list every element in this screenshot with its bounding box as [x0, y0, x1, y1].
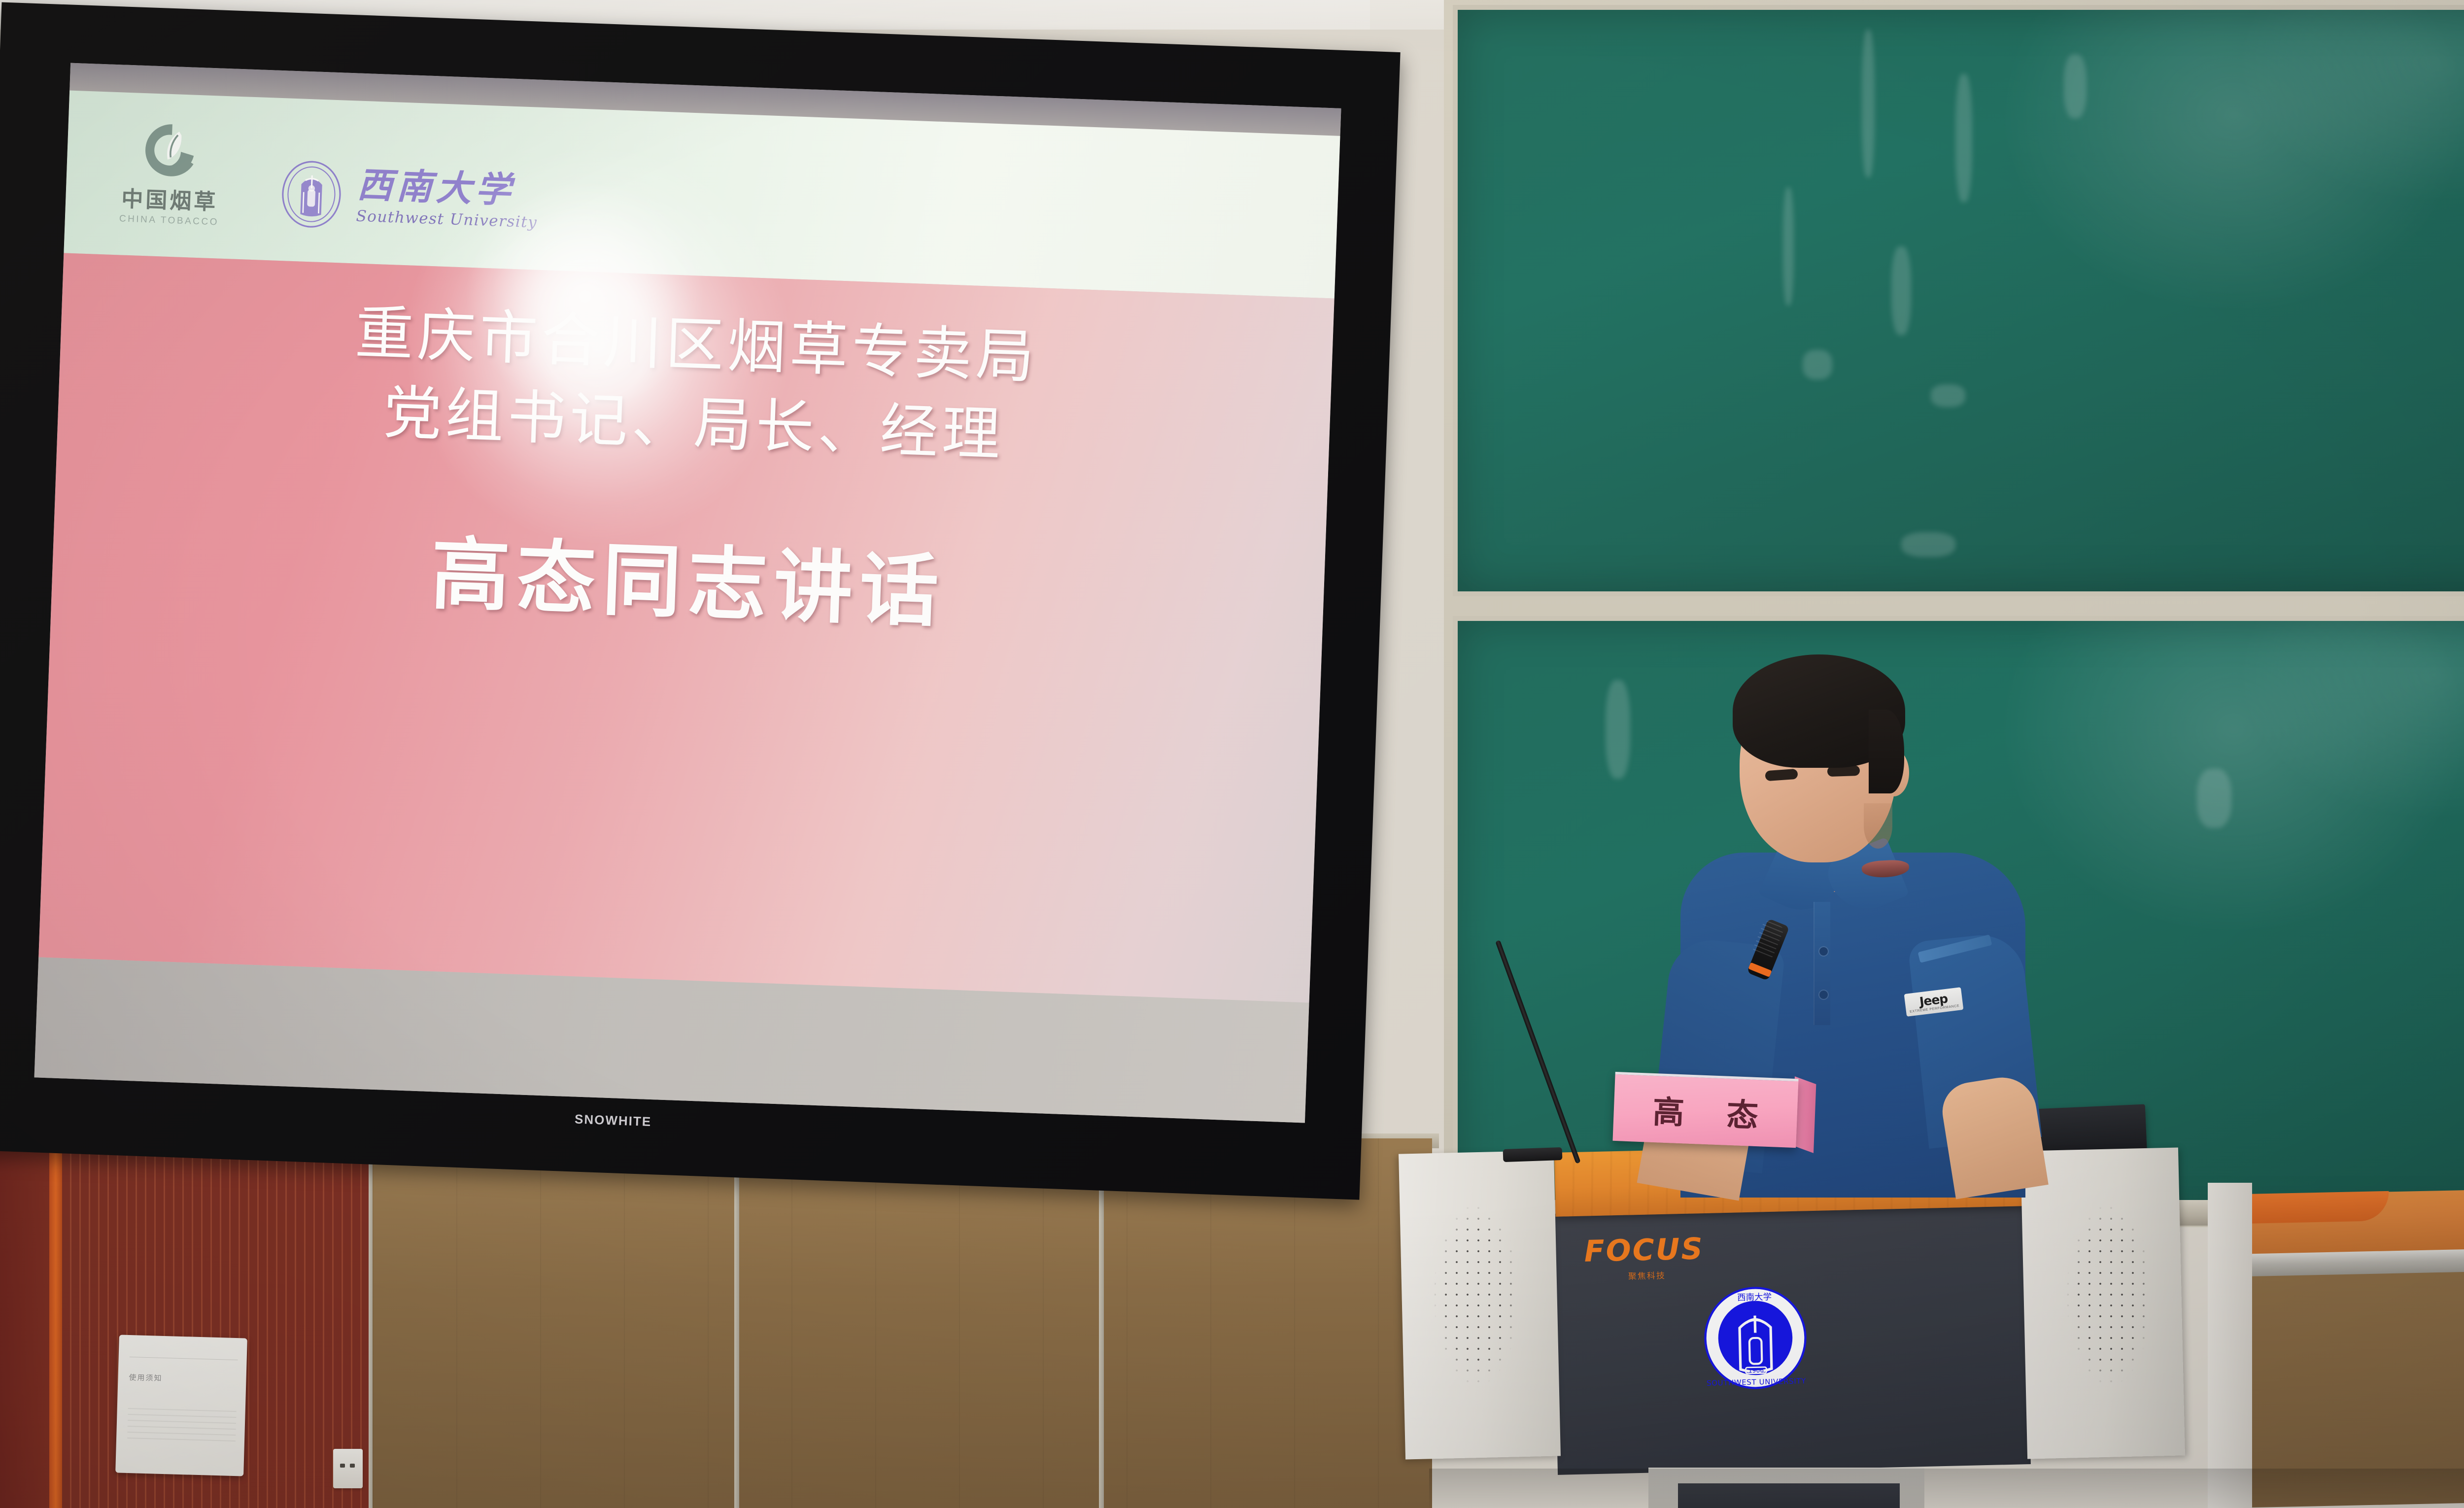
notice-body-lines — [127, 1408, 237, 1441]
southwest-university-text: 西南大学 Southwest University — [356, 167, 539, 232]
blackboard-panel-top[interactable] — [1453, 5, 2464, 596]
name-placard[interactable]: 高 态 — [1612, 1072, 1798, 1148]
podium-brand-subtitle: 聚焦科技 — [1628, 1268, 1705, 1282]
speaker-grille-left — [1430, 1192, 1523, 1399]
svg-text:SOUTHWEST UNIVERSITY: SOUTHWEST UNIVERSITY — [1707, 1376, 1806, 1388]
southwest-university-cn-label: 西南大学 — [357, 167, 539, 209]
speaker-hair — [1733, 654, 1905, 768]
china-tobacco-logo: 中国烟草 CHINA TOBACCO — [119, 119, 223, 228]
floor-shadow — [1429, 1469, 2464, 1508]
projection-screen[interactable]: 中国烟草 CHINA TOBACCO — [0, 0, 1418, 1223]
speaker-nose — [1864, 803, 1892, 849]
power-outlet[interactable] — [333, 1449, 363, 1488]
podium-university-seal-icon: 1906 西南大学 SOUTHWEST UNIVERSITY — [1703, 1285, 1809, 1391]
notice-rule — [130, 1357, 238, 1360]
speaker-shirt-placket — [1814, 902, 1830, 1025]
southwest-university-en-label: Southwest University — [356, 207, 538, 232]
microphone-base[interactable] — [1503, 1147, 1563, 1162]
lecture-hall-scene: 使用须知 — [0, 0, 2464, 1508]
speaker-grille-right — [2062, 1192, 2156, 1399]
shirt-button-1 — [1819, 947, 1828, 956]
podium-brand-logo: FOCUS 聚焦科技 — [1584, 1232, 1705, 1282]
placard-char-1: 高 — [1652, 1086, 1685, 1132]
podium-brand-name: FOCUS — [1584, 1232, 1704, 1268]
china-tobacco-leaf-icon — [141, 120, 202, 181]
slide-logo-row: 中国烟草 CHINA TOBACCO — [119, 119, 541, 239]
screen-frame: 中国烟草 CHINA TOBACCO — [0, 2, 1401, 1200]
southwest-university-logo: 西南大学 Southwest University — [277, 156, 539, 240]
svg-text:西南大学: 西南大学 — [1737, 1292, 1772, 1303]
notice-title: 使用须知 — [129, 1372, 238, 1385]
china-tobacco-cn-label: 中国烟草 — [121, 181, 218, 216]
shirt-button-2 — [1819, 991, 1828, 999]
southwest-university-seal-icon — [277, 156, 345, 233]
placard-char-2: 态 — [1726, 1089, 1759, 1135]
slide-surface[interactable]: 中国烟草 CHINA TOBACCO — [34, 63, 1341, 1123]
wall-accent-strip — [49, 1148, 62, 1508]
wall-notice-card[interactable]: 使用须知 — [115, 1335, 247, 1476]
svg-text:1906: 1906 — [1748, 1367, 1764, 1374]
